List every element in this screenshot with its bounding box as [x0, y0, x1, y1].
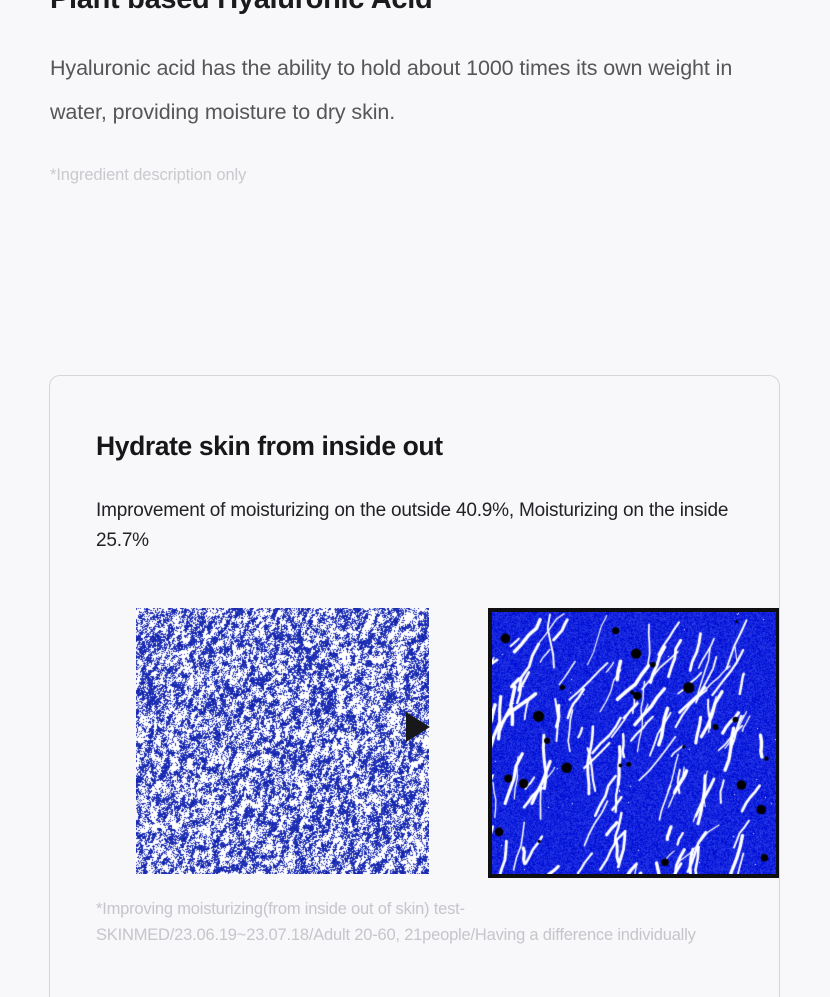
product-detail-page: Plant based Hyaluronic Acid Hyaluronic a… [0, 0, 830, 997]
ingredient-intro-section: Plant based Hyaluronic Acid Hyaluronic a… [50, 0, 770, 187]
arrow-right-triangle-icon [401, 710, 435, 744]
before-moisture-canvas [136, 608, 429, 874]
card-footnote: *Improving moisturizing(from inside out … [96, 896, 706, 948]
card-content: Hydrate skin from inside out Improvement… [50, 376, 779, 948]
ingredient-disclaimer: *Ingredient description only [50, 163, 770, 187]
before-after-comparison [96, 592, 756, 864]
hydration-claim-card: Hydrate skin from inside out Improvement… [49, 375, 780, 997]
after-moisture-image [488, 608, 780, 878]
before-moisture-image [136, 608, 429, 874]
page-title: Plant based Hyaluronic Acid [50, 0, 770, 20]
arrow-right-triangle-glyph [406, 712, 430, 742]
card-title: Hydrate skin from inside out [96, 429, 779, 463]
card-description: Improvement of moisturizing on the outsi… [96, 496, 779, 556]
ingredient-description: Hyaluronic acid has the ability to hold … [50, 46, 750, 134]
after-moisture-canvas [492, 612, 776, 874]
